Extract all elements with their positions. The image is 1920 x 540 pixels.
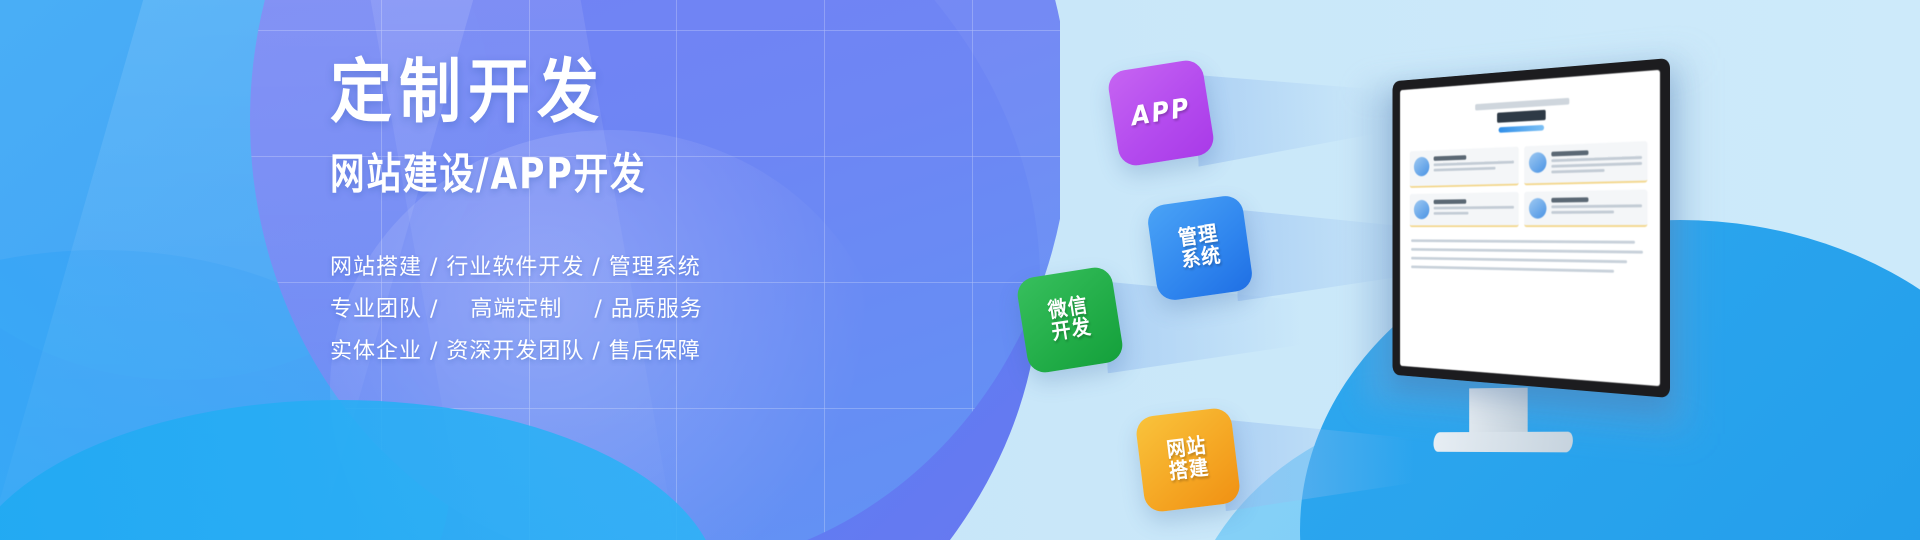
screen-subtitle-placeholder — [1497, 110, 1546, 123]
service-card-management-system[interactable]: 管理 系统 — [1146, 194, 1254, 302]
monitor-illustration — [1318, 58, 1748, 478]
promo-banner: 定制开发 网站建设/APP开发 网站搭建 / 行业软件开发 / 管理系统 专业团… — [0, 0, 1920, 540]
description-line: 专业团队 / 高端定制 / 品质服务 — [330, 289, 890, 331]
screen-feature-card — [1410, 192, 1519, 227]
headline: 定制开发 — [330, 56, 890, 127]
screen-feature-icon — [1529, 152, 1547, 173]
screen-feature-text — [1434, 198, 1514, 217]
service-card-website-building[interactable]: 网站 搭建 — [1135, 407, 1242, 514]
screen-title-underline — [1499, 125, 1544, 133]
screen-feature-text — [1551, 148, 1642, 176]
screen-feature-text — [1434, 153, 1514, 174]
description-line: 实体企业 / 资深开发团队 / 售后保障 — [330, 331, 890, 373]
screen-feature-card — [1524, 189, 1648, 227]
monitor-screen — [1400, 70, 1660, 386]
service-card-label: 管理 系统 — [1177, 223, 1223, 272]
monitor-frame — [1393, 58, 1670, 398]
description-list: 网站搭建 / 行业软件开发 / 管理系统 专业团队 / 高端定制 / 品质服务 … — [330, 247, 890, 374]
screen-feature-card — [1524, 141, 1648, 185]
screen-feature-icon — [1529, 198, 1547, 219]
service-card-app[interactable]: APP — [1106, 58, 1216, 168]
screen-feature-grid — [1400, 140, 1660, 227]
service-card-label: APP — [1129, 95, 1192, 132]
screen-feature-text — [1551, 196, 1642, 216]
monitor-stand-base — [1433, 432, 1574, 453]
copy-block: 定制开发 网站建设/APP开发 网站搭建 / 行业软件开发 / 管理系统 专业团… — [330, 56, 890, 374]
screen-feature-icon — [1414, 200, 1429, 219]
screen-feature-icon — [1414, 157, 1429, 177]
service-card-label: 网站 搭建 — [1165, 436, 1210, 484]
screen-paragraph-placeholder — [1400, 227, 1660, 274]
description-line: 网站搭建 / 行业软件开发 / 管理系统 — [330, 247, 890, 289]
subheadline: 网站建设/APP开发 — [330, 152, 868, 199]
screen-feature-card — [1410, 147, 1519, 188]
service-card-wechat-development[interactable]: 微信 开发 — [1015, 265, 1125, 375]
service-card-label: 微信 开发 — [1047, 295, 1093, 345]
screen-title-placeholder — [1475, 98, 1569, 111]
